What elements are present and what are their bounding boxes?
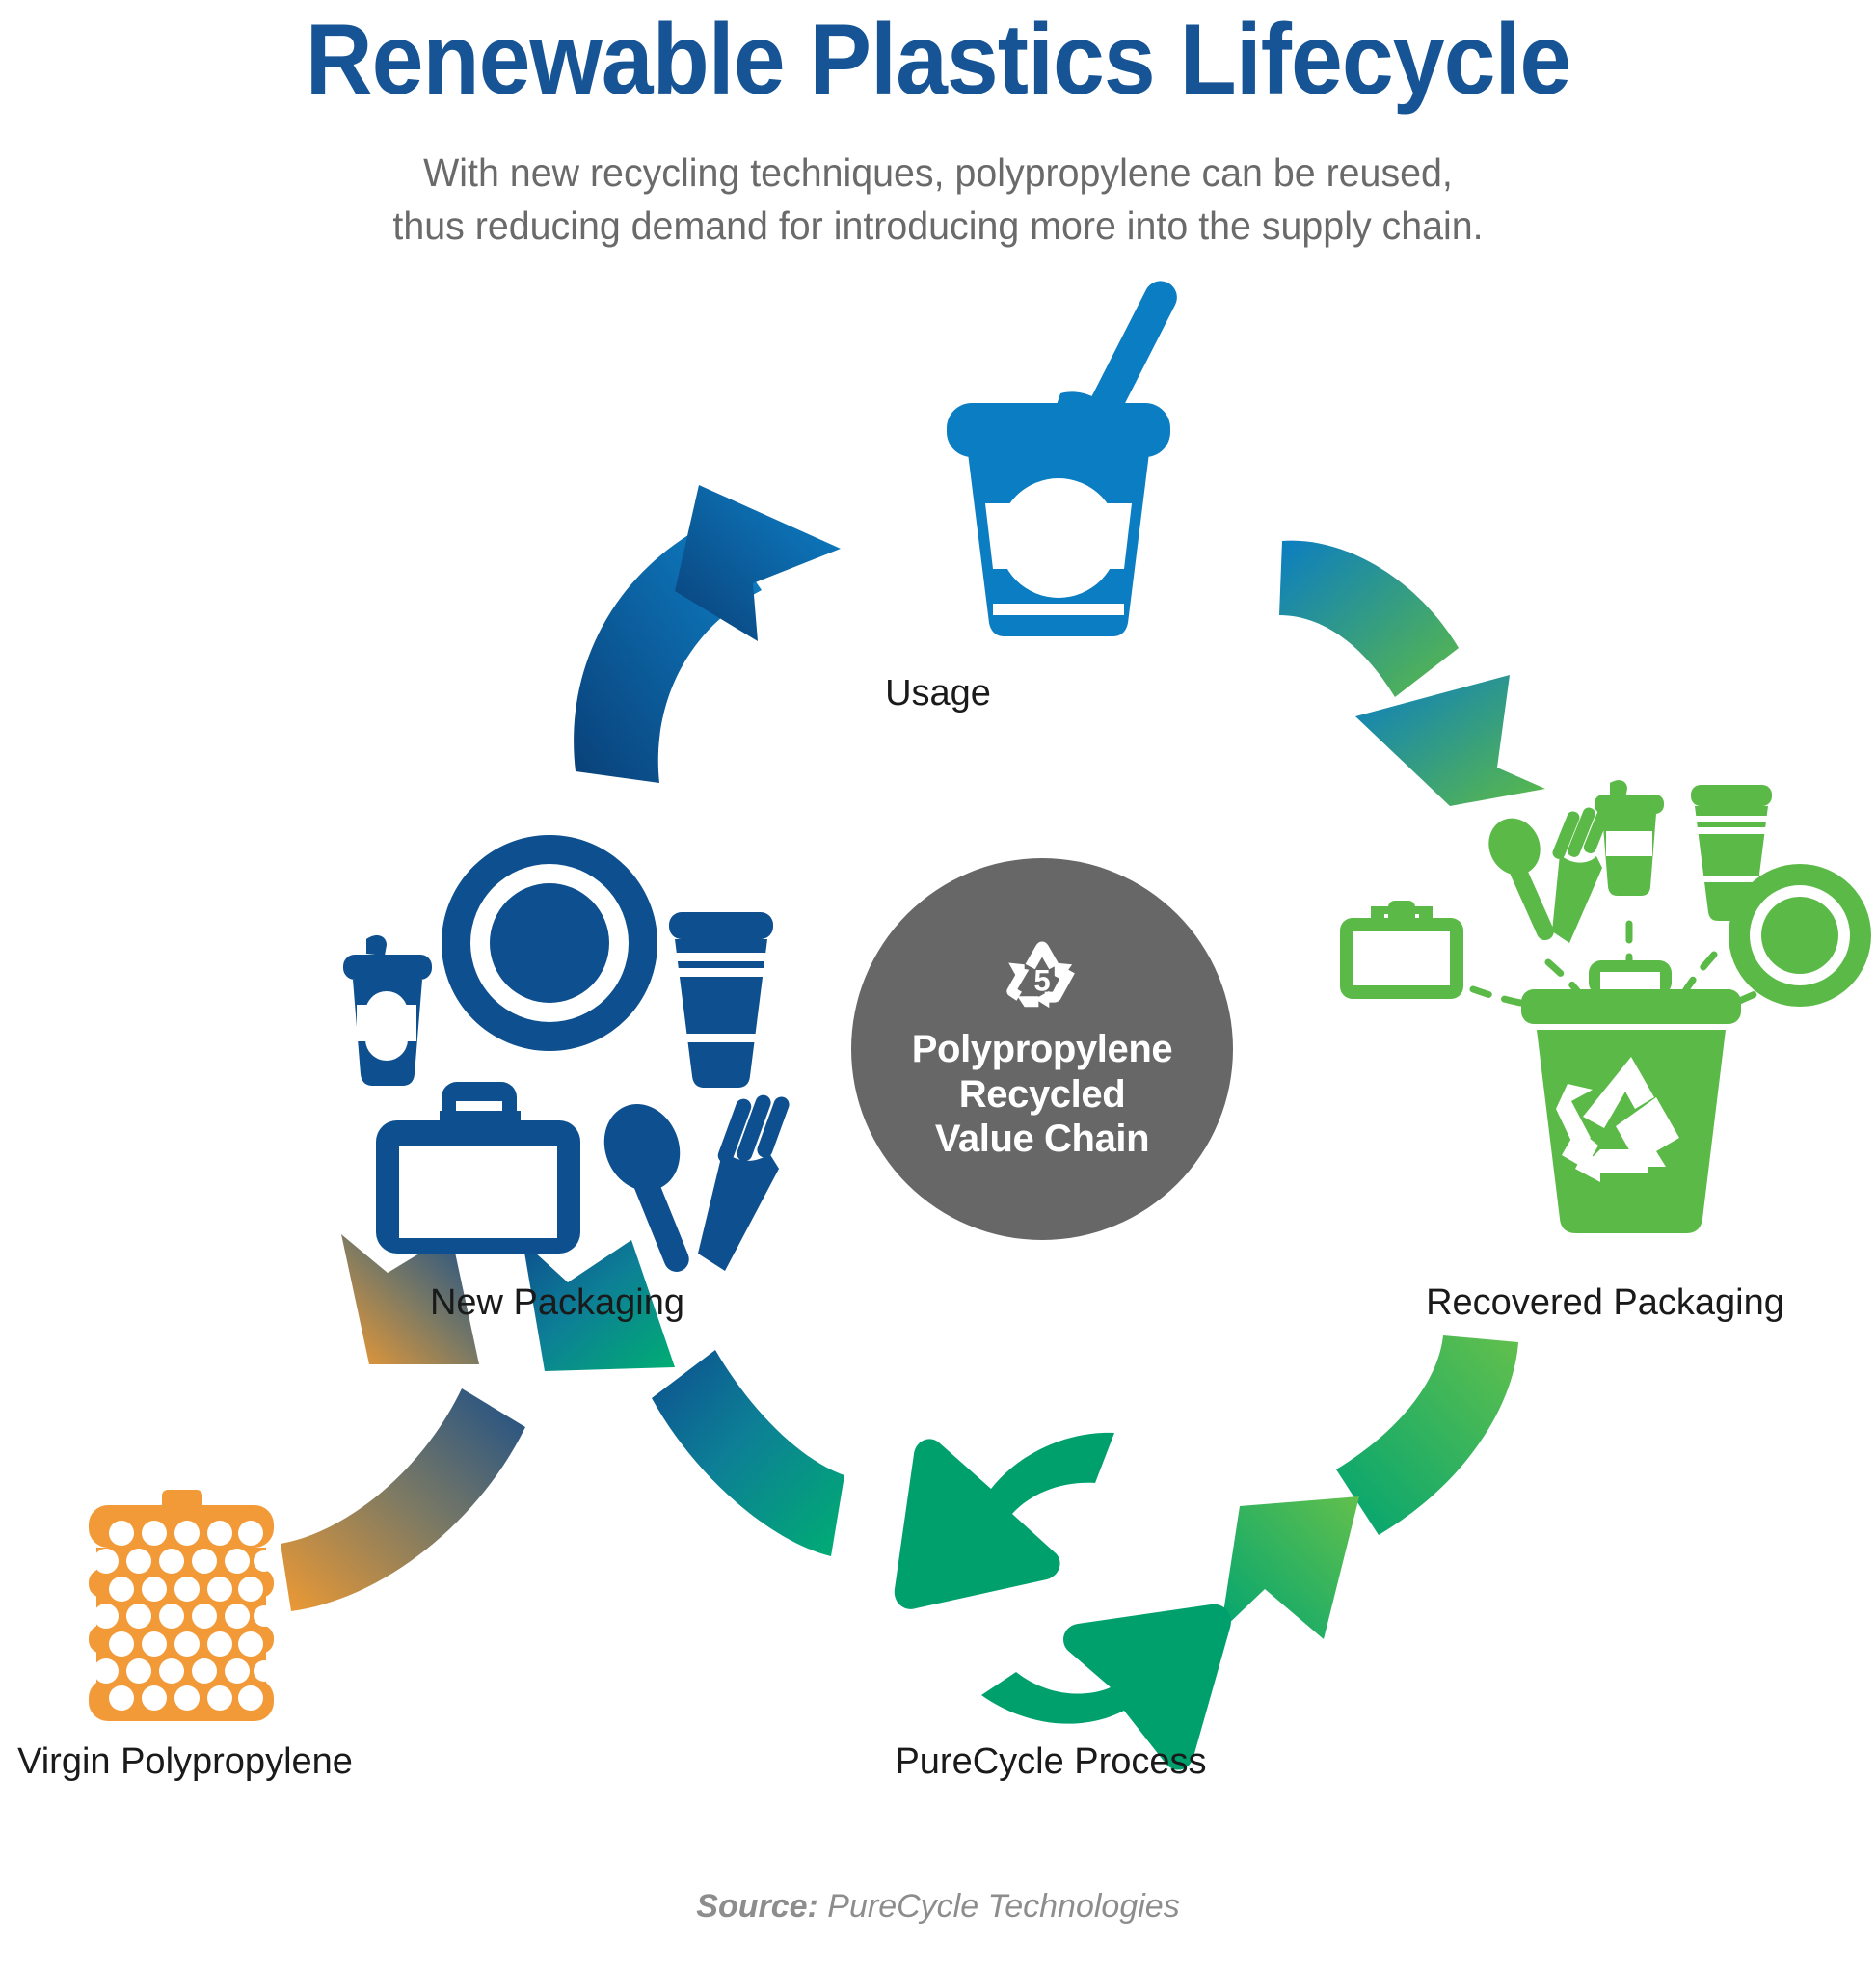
arrow-usage-to-recovered-packaging — [1279, 541, 1545, 806]
cup-with-spoon-icon — [947, 276, 1183, 636]
node-label-recovered-packaging: Recovered Packaging — [1354, 1282, 1856, 1324]
briefcase-icon — [376, 1082, 580, 1254]
arrow-new-packaging-to-usage — [574, 485, 841, 783]
cycle-arrows-icon — [895, 1433, 1231, 1770]
source-value: PureCycle Technologies — [818, 1888, 1180, 1925]
source-label: Source: — [696, 1888, 818, 1925]
hub-caption-line-1: Polypropylene — [912, 1027, 1172, 1071]
hub-caption-line-2: Recycled — [912, 1072, 1172, 1117]
togo-cup-icon — [343, 935, 432, 1086]
tapered-cup-icon — [669, 912, 773, 1088]
infographic-canvas: Renewable Plastics Lifecycle With new re… — [0, 0, 1876, 1968]
source-note: Source: PureCycle Technologies — [0, 1888, 1876, 1926]
node-label-usage: Usage — [842, 673, 1034, 714]
briefcase-icon — [1340, 901, 1463, 999]
icon-recovered-packaging-group — [1311, 771, 1832, 1254]
node-label-purecycle-process: PureCycle Process — [868, 1741, 1234, 1783]
node-label-virgin-polypropylene: Virgin Polypropylene — [0, 1741, 378, 1783]
hub-caption: Polypropylene Recycled Value Chain — [912, 1027, 1172, 1161]
icon-purecycle-group — [848, 1410, 1253, 1786]
icon-virgin-polypropylene-group — [75, 1490, 287, 1750]
icon-usage-group — [925, 280, 1195, 636]
spoon-fork-icon — [592, 1092, 791, 1276]
recycling-triangle-icon: 5 — [998, 936, 1086, 1019]
svg-text:5: 5 — [1033, 964, 1050, 998]
center-hub: 5 Polypropylene Recycled Value Chain — [851, 858, 1233, 1240]
spoon-fork-icon — [1480, 806, 1612, 943]
arrow-recovered-packaging-to-purecycle — [1220, 1335, 1518, 1639]
icon-new-packaging-group — [307, 829, 808, 1254]
togo-cup-icon — [1595, 780, 1664, 896]
pellet-barrel-icon — [89, 1490, 275, 1721]
plate-icon — [1729, 864, 1871, 1007]
hub-caption-line-3: Value Chain — [912, 1117, 1172, 1161]
recycle-bin-icon — [1521, 960, 1741, 1233]
plate-icon — [442, 835, 657, 1051]
node-label-new-packaging: New Packaging — [384, 1282, 731, 1324]
